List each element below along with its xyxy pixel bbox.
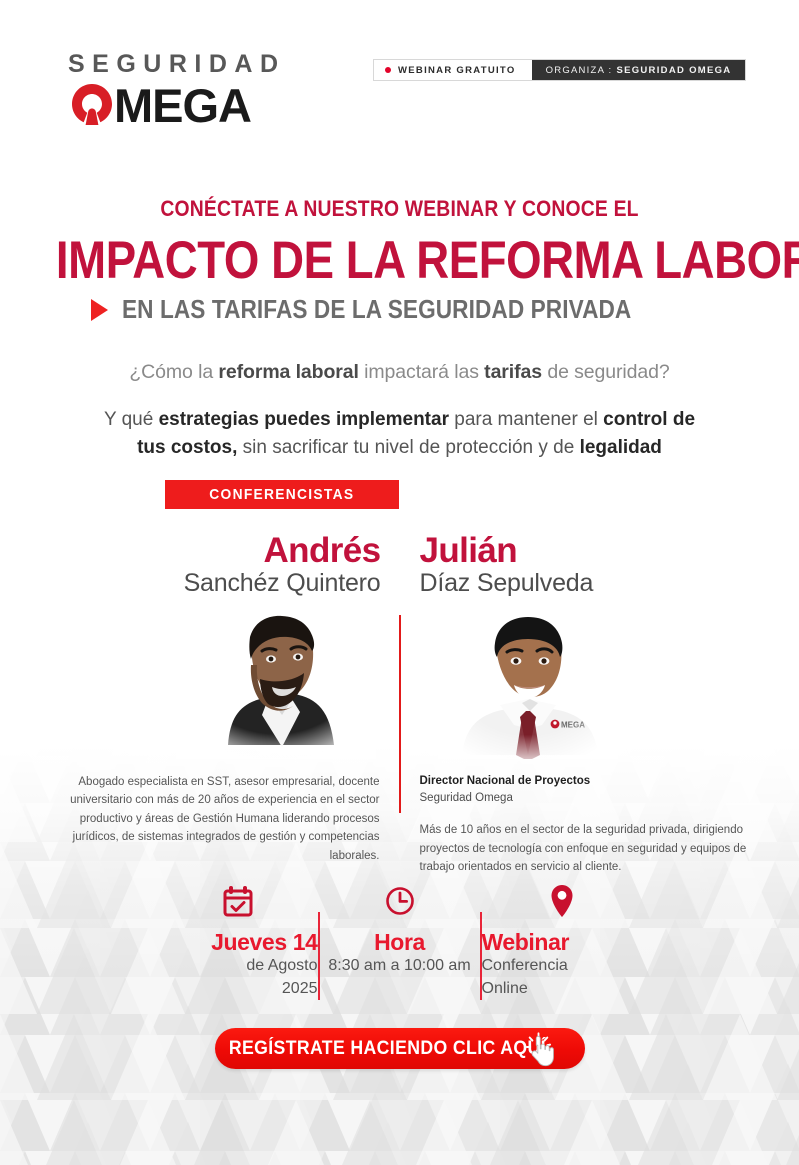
register-button-label: REGÍSTRATE HACIENDO CLIC AQUÍ (229, 1038, 570, 1060)
play-triangle-icon (91, 299, 108, 321)
hand-pointer-click-icon (525, 1031, 585, 1095)
event-time-title: Hora (320, 930, 480, 954)
speakers-divider (399, 615, 401, 813)
hero-question-part2: impactará las (359, 361, 484, 383)
page-title: IMPACTO DE LA REFORMA LABORAL (56, 234, 743, 288)
speakers-banner-label: CONFERENCISTAS (209, 486, 354, 503)
cta-section: REGÍSTRATE HACIENDO CLIC AQUÍ (0, 1028, 799, 1069)
calendar-check-icon (158, 884, 318, 918)
speaker-photo-julian: MEGA (400, 607, 799, 759)
event-item-time: Hora 8:30 am a 10:00 am (320, 884, 480, 977)
badge-organiza-prefix: ORGANIZA : (546, 65, 613, 76)
speaker-card-julian: Julián Díaz Sepulveda (400, 533, 799, 877)
speakers-section: Andrés Sanchéz Quintero (0, 533, 799, 877)
speaker-last-name: Díaz Sepulveda (420, 569, 784, 598)
logo-bottom-row: MEGA (68, 81, 286, 129)
omega-location-mark-icon (68, 81, 116, 129)
event-time-sub1: 8:30 am a 10:00 am (320, 956, 480, 977)
event-date-title: Jueves 14 (158, 930, 318, 954)
brand-logo[interactable]: SEGURIDAD MEGA (68, 52, 286, 129)
speaker-names-andres: Andrés Sanchéz Quintero (0, 533, 400, 598)
speaker-last-name: Sanchéz Quintero (16, 569, 381, 598)
hero-question-bold1: reforma laboral (218, 361, 358, 383)
event-item-location: Webinar Conferencia Online (482, 884, 642, 1000)
speaker-card-andres: Andrés Sanchéz Quintero (0, 533, 400, 877)
speaker-first-name: Julián (420, 533, 784, 570)
location-pin-icon (482, 884, 642, 918)
hero-question-bold2: tarifas (484, 361, 542, 383)
hero-description-part1: Y qué (104, 409, 159, 430)
hero-question: ¿Cómo la reforma laboral impactará las t… (0, 361, 799, 384)
hero-description-part3: sin sacrificar tu nivel de protección y … (237, 437, 579, 458)
logo-top-word: SEGURIDAD (68, 52, 286, 77)
speakers-banner: CONFERENCISTAS (165, 480, 399, 509)
badge-webinar-gratuito: WEBINAR GRATUITO (374, 60, 532, 80)
hero-subhead: EN LAS TARIFAS DE LA SEGURIDAD PRIVADA (122, 294, 631, 325)
speaker-bio-andres: Abogado especialista en SST, asesor empr… (0, 773, 400, 866)
register-button[interactable]: REGÍSTRATE HACIENDO CLIC AQUÍ (215, 1028, 585, 1069)
hero-description: Y qué estrategias puedes implementar par… (90, 406, 710, 462)
speaker-bio-text: Abogado especialista en SST, asesor empr… (70, 773, 380, 866)
speaker-bio-julian: Director Nacional de Proyectos Seguridad… (400, 773, 799, 877)
hero-subhead-row: EN LAS TARIFAS DE LA SEGURIDAD PRIVADA (0, 294, 799, 325)
red-dot-icon (385, 67, 391, 73)
header-badge: WEBINAR GRATUITO ORGANIZA : SEGURIDAD OM… (373, 59, 746, 81)
speaker-names-julian: Julián Díaz Sepulveda (400, 533, 799, 598)
hero-description-bold1: estrategias puedes implementar (159, 409, 449, 430)
logo-bottom-word: MEGA (114, 82, 251, 129)
hero-description-bold3: legalidad (580, 437, 662, 458)
hero-question-part1: ¿Cómo la (129, 361, 218, 383)
speaker-role: Director Nacional de Proyectos (420, 773, 760, 790)
hero-question-part3: de seguridad? (542, 361, 670, 383)
hero-description-part2: para mantener el (449, 409, 603, 430)
badge-organiza-name: SEGURIDAD OMEGA (616, 65, 731, 76)
page-header: SEGURIDAD MEGA WEBINAR GRATUITO ORGANIZA… (0, 0, 799, 160)
badge-organiza: ORGANIZA : SEGURIDAD OMEGA (532, 60, 746, 80)
event-item-date: Jueves 14 de Agosto 2025 (158, 884, 318, 1000)
speaker-bio-text: Más de 10 años en el sector de la seguri… (420, 821, 760, 877)
speaker-first-name: Andrés (16, 533, 381, 570)
event-location-sub2: Online (482, 979, 642, 1000)
event-location-title: Webinar (482, 930, 642, 954)
event-date-sub2: 2025 (158, 979, 318, 1000)
hero-section: CONÉCTATE A NUESTRO WEBINAR Y CONOCE EL … (0, 196, 799, 462)
clock-icon (320, 884, 480, 918)
event-location-sub1: Conferencia (482, 956, 642, 977)
speaker-photo-andres (0, 607, 400, 759)
event-date-sub1: de Agosto (158, 956, 318, 977)
badge-free-label: WEBINAR GRATUITO (398, 65, 516, 76)
event-info-row: Jueves 14 de Agosto 2025 Hora 8:30 am a … (0, 884, 799, 1000)
hero-kicker: CONÉCTATE A NUESTRO WEBINAR Y CONOCE EL (48, 196, 751, 222)
speaker-org: Seguridad Omega (420, 790, 760, 807)
